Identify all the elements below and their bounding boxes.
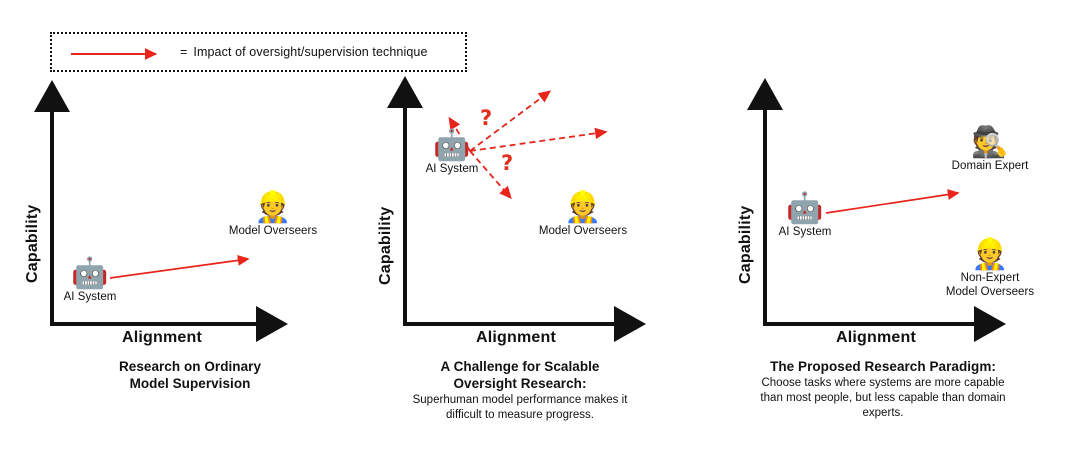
caption-title-line-1: Research on Ordinary [40, 358, 340, 375]
node-label-line-2: Model Overseers [935, 286, 1045, 299]
construction-worker-icon: 👷 [528, 192, 638, 224]
node-label-line-1: Non-Expert [935, 272, 1045, 285]
node-non-expert-model-overseers: 👷 Non-Expert Model Overseers [935, 239, 1045, 299]
caption-title-line-1: The Proposed Research Paradigm: [696, 358, 1070, 375]
caption-sub-line-2: difficult to measure progress. [360, 408, 680, 422]
caption-title-line-2: Oversight Research: [360, 375, 680, 392]
node-model-overseers: 👷 Model Overseers [528, 192, 638, 238]
caption-sub-line-2: than most people, but less capable than … [696, 391, 1070, 405]
question-mark-1: ? [480, 108, 492, 129]
node-ai-system: 🤖 AI System [416, 130, 488, 176]
caption-sub-line-1: Choose tasks where systems are more capa… [696, 376, 1070, 390]
x-axis-label: Alignment [765, 329, 987, 347]
robot-icon: 🤖 [54, 258, 126, 290]
node-label: Model Overseers [528, 225, 638, 238]
node-label: Model Overseers [218, 225, 328, 238]
robot-icon: 🤖 [416, 130, 488, 162]
panel-3-caption: The Proposed Research Paradigm: Choose t… [696, 358, 1070, 420]
caption-sub-line-3: experts. [696, 406, 1070, 420]
panel-2-caption: A Challenge for Scalable Oversight Resea… [360, 358, 680, 422]
caption-sub-line-1: Superhuman model performance makes it [360, 393, 680, 407]
node-ai-system: 🤖 AI System [54, 258, 126, 304]
node-ai-system: 🤖 AI System [769, 193, 841, 239]
node-domain-expert: 🕵️ Domain Expert [940, 127, 1040, 173]
x-axis-label: Alignment [52, 329, 272, 347]
caption-title-line-2: Model Supervision [40, 375, 340, 392]
panel-ordinary-supervision: Capability Alignment 🤖 AI System 👷 Model… [0, 0, 385, 452]
panel-proposed-paradigm: Capability Alignment 🤖 AI System 🕵️ Doma… [686, 0, 1080, 452]
construction-worker-icon: 👷 [935, 239, 1045, 271]
robot-icon: 🤖 [769, 193, 841, 225]
node-label: Domain Expert [940, 160, 1040, 173]
construction-worker-icon: 👷 [218, 192, 328, 224]
node-label: AI System [769, 226, 841, 239]
node-label: AI System [54, 291, 126, 304]
y-axis-label: Capability [24, 205, 42, 283]
x-axis-label: Alignment [405, 329, 627, 347]
panel-1-caption: Research on Ordinary Model Supervision [40, 358, 340, 392]
y-axis-label: Capability [737, 206, 755, 284]
node-model-overseers: 👷 Model Overseers [218, 192, 328, 238]
question-mark-2: ? [501, 153, 513, 174]
y-axis-label: Capability [377, 207, 395, 285]
panel-scalable-oversight-challenge: ? ? Capability Alignment 🤖 AI System 👷 M… [353, 0, 686, 452]
node-label: AI System [416, 163, 488, 176]
figure-canvas: = Impact of oversight/supervision techni… [0, 0, 1080, 452]
caption-title-line-1: A Challenge for Scalable [360, 358, 680, 375]
detective-icon: 🕵️ [940, 127, 1040, 159]
